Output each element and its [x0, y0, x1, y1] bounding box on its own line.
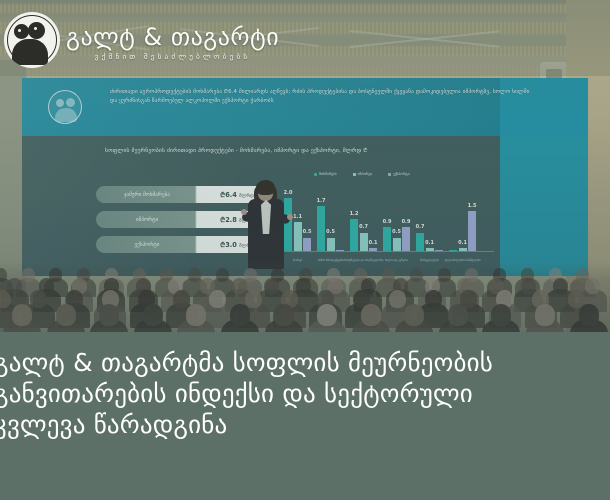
audience-member-head — [361, 304, 381, 326]
chart-bar: 0.9 — [383, 227, 391, 251]
chart-bar: 0.1 — [459, 248, 467, 251]
chart-bar-value-label: 1.7 — [317, 198, 326, 204]
chart-legend-item: ექსპორტი — [388, 172, 409, 176]
audience-member-head — [7, 278, 22, 294]
legend-label: იმპორტი — [358, 172, 373, 176]
chart-bar-value-label: 0.9 — [383, 219, 392, 225]
legend-label: ექსპორტი — [393, 172, 409, 176]
slide-right-teal-edge — [500, 136, 588, 276]
chart-x-axis — [278, 251, 494, 252]
chart-bar: 1.2 — [350, 219, 358, 251]
chart-bar: 0.5 — [327, 238, 335, 251]
legend-swatch-icon — [353, 173, 356, 176]
audience-member-head — [30, 290, 47, 308]
chart-bar — [435, 250, 443, 251]
audience-member-head — [425, 290, 442, 308]
audience-member-head — [317, 304, 337, 326]
audience-member-head — [188, 268, 201, 282]
audience-member-head — [579, 304, 599, 326]
audience-member-head — [173, 290, 190, 308]
brand-block: გალტ & თაგარტი ვქმნით შესაძლებლობებს — [66, 24, 279, 61]
audience-member-head — [209, 290, 226, 308]
chart-bar — [336, 250, 344, 251]
summary-row-label: ჯამური მოხმარება — [96, 192, 198, 198]
legend-swatch-icon — [314, 173, 317, 176]
audience-member-head — [143, 304, 163, 326]
audience-member-head — [274, 304, 294, 326]
chart-bar: 1.5 — [468, 211, 476, 251]
chart-legend-item: იმპორტი — [353, 172, 373, 176]
audience-member-head — [232, 278, 247, 294]
audience-member-head — [535, 304, 555, 326]
chart-bar-group: 0.70.1მარცვლეული — [416, 233, 443, 251]
brand-tagline: ვქმნით შესაძლებლობებს — [66, 52, 279, 61]
chart-bar — [449, 250, 457, 251]
chart-bar: 0.5 — [393, 238, 401, 251]
audience-member-head — [296, 278, 311, 294]
chart-bar: 1.1 — [294, 222, 302, 251]
audience-member-head — [12, 304, 32, 326]
legend-label: მოხმარება — [319, 172, 337, 176]
chart-bar-value-label: 0.1 — [458, 240, 467, 246]
audience-member-head — [264, 278, 279, 294]
audience-member-head — [382, 268, 395, 282]
summary-value-number: ₾6.4 — [220, 191, 237, 199]
audience-member-head — [245, 290, 262, 308]
summary-row-label: იმპორტი — [96, 217, 198, 223]
chart-bar-value-label: 0.5 — [303, 229, 312, 235]
sheep-circle-logo-icon — [4, 12, 60, 68]
screenshot-root: ძირითადი აგროპროდუქტების მოხმარება ₾6.4 … — [0, 0, 610, 500]
chart-plot-area: 2.01.10.5ხორცი1.70.5რძის პროდუქტები1.20.… — [278, 182, 494, 252]
chart-bar: 0.7 — [360, 233, 368, 251]
chart-legend: მოხმარებაიმპორტიექსპორტი — [314, 172, 410, 176]
chart-bar-group: 0.11.5ალკოჰოლური სასმელები — [449, 211, 476, 251]
audience-member-head — [404, 304, 424, 326]
banner-sheep-circle-logo-icon — [48, 90, 82, 124]
header-bar: გალტ & თაგარტი ვქმნით შესაძლებლობებს — [0, 0, 610, 76]
chart-bar: 0.9 — [402, 227, 410, 251]
chart-bar-value-label: 1.5 — [468, 203, 477, 209]
slide-bar-chart: მოხმარებაიმპორტიექსპორტი 2.01.10.5ხორცი1… — [278, 172, 494, 264]
chart-bar-group: 1.70.5რძის პროდუქტები — [317, 206, 344, 251]
audience-rows — [0, 262, 610, 332]
chart-bar: 0.5 — [303, 238, 311, 251]
chart-bar: 0.1 — [426, 248, 434, 251]
chart-bar-value-label: 1.1 — [293, 214, 302, 220]
audience-member-head — [230, 304, 250, 326]
audience-member-head — [553, 278, 568, 294]
audience-member-head — [389, 290, 406, 308]
chart-bar-value-label: 0.1 — [369, 240, 378, 246]
banner-paragraph: ძირითადი აგროპროდუქტების მოხმარება ₾6.4 … — [110, 88, 530, 106]
chart-bar-value-label: 0.7 — [359, 224, 368, 230]
chart-bar-value-label: 0.9 — [402, 219, 411, 225]
audience-member-head — [438, 268, 451, 282]
chart-bar: 0.1 — [369, 248, 377, 251]
chart-bar-group: 0.90.50.9ხილი და კენკრა — [383, 227, 410, 251]
chart-bar-value-label: 0.5 — [392, 229, 401, 235]
chart-legend-item: მოხმარება — [314, 172, 337, 176]
headline-line-2: განვითარების ინდექსი და სექტორული — [0, 378, 493, 409]
summary-value-number: ₾2.8 — [220, 216, 237, 224]
chart-bar: 0.7 — [416, 233, 424, 251]
headline-line-3: კვლევა წარადგინა — [0, 409, 493, 440]
headline-line-1: გალტ & თაგარტმა სოფლის მეურნეობის — [0, 347, 493, 378]
slide-banner-right-block — [500, 78, 588, 136]
chart-bar-value-label: 1.2 — [350, 211, 359, 217]
slide-title: სოფლის მეურნეობის ძირითადი პროდუქტები - … — [105, 146, 495, 154]
audience-member-head — [216, 268, 229, 282]
audience-member-head — [448, 304, 468, 326]
chart-bar-group: 1.20.70.1ბოსტნეული და ბაღჩეულობა — [350, 219, 377, 251]
summary-row-label: ექსპორტი — [96, 242, 198, 248]
chart-bar-value-label: 0.1 — [425, 240, 434, 246]
audience-member-head — [491, 304, 511, 326]
footer-headline-panel: გალტ & თაგარტმა სოფლის მეურნეობისგანვითა… — [0, 332, 610, 500]
chart-bar-value-label: 0.5 — [326, 229, 335, 235]
audience-member-head — [585, 278, 600, 294]
chart-bar-value-label: 0.7 — [416, 224, 425, 230]
legend-swatch-icon — [388, 173, 391, 176]
audience-member-head — [410, 268, 423, 282]
summary-value-number: ₾3.0 — [220, 241, 237, 249]
audience-member-head — [186, 304, 206, 326]
audience-member-head — [56, 304, 76, 326]
brand-name: გალტ & თაგარტი — [66, 24, 279, 50]
headline: გალტ & თაგარტმა სოფლის მეურნეობისგანვითა… — [0, 347, 493, 440]
audience-member-head — [244, 268, 257, 282]
audience-member-head — [22, 268, 35, 282]
chart-bar: 1.7 — [317, 206, 325, 251]
audience-member-head — [99, 304, 119, 326]
